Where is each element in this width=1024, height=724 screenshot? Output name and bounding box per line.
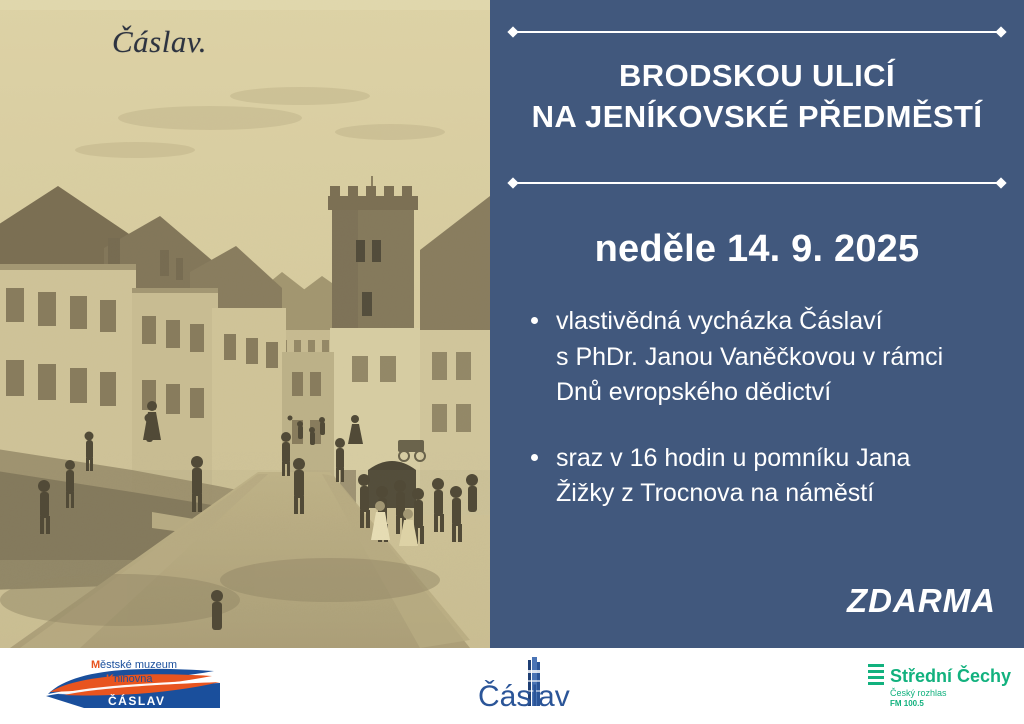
radio-line2: Český rozhlas <box>890 688 947 698</box>
rule-bar <box>515 31 999 33</box>
bullet-line: vlastivědná vycházka Čáslaví <box>556 304 1010 340</box>
page-title: BRODSKOU ULICÍ NA JENÍKOVSKÉ PŘEDMĚSTÍ <box>498 55 1016 137</box>
museum-line1-rest: ěstské muzeum <box>100 659 177 671</box>
event-date: neděle 14. 9. 2025 <box>498 228 1016 271</box>
poster-root: Čáslav. BRODSKOU ULICÍ NA JENÍKOVSKÉ PŘE… <box>0 0 1024 724</box>
radio-line1: Střední Čechy <box>890 665 1011 686</box>
historic-photo: Čáslav. <box>0 0 490 648</box>
logo-mesto-caslav: Čáslav <box>470 654 590 716</box>
price-badge: ZDARMA <box>847 582 996 620</box>
list-item: vlastivědná vycházka Čáslaví s PhDr. Jan… <box>526 304 1010 411</box>
bullet-line: Žižky z Trocnova na náměstí <box>556 476 1010 512</box>
event-details-list: vlastivědná vycházka Čáslaví s PhDr. Jan… <box>526 304 1010 542</box>
caslav-tower-logo-mark: Čáslav <box>470 654 590 716</box>
bullet-icon <box>531 317 538 324</box>
bullet-icon <box>531 454 538 461</box>
museum-line3: ČÁSLAV <box>108 693 165 708</box>
title-line-2: NA JENÍKOVSKÉ PŘEDMĚSTÍ <box>498 96 1016 137</box>
radio-line3: FM 100.5 <box>890 699 924 708</box>
photo-caption: Čáslav. <box>112 24 207 60</box>
logo-mestske-muzeum-caslav: M ěstské muzeum K nihovna ČÁSLAV <box>44 654 224 716</box>
bullet-line: s PhDr. Janou Vaněčkovou v rámci <box>556 340 1010 376</box>
logo-cesky-rozhlas-stredni-cechy: Střední Čechy Český rozhlas FM 100.5 <box>866 660 1018 710</box>
radio-waves-icon <box>868 664 884 685</box>
decorative-rule-bottom <box>508 178 1006 188</box>
logo-bar: M ěstské muzeum K nihovna ČÁSLAV Čáslav <box>0 648 1024 724</box>
list-item: sraz v 16 hodin u pomníku Jana Žižky z T… <box>526 441 1010 512</box>
title-line-1: BRODSKOU ULICÍ <box>619 58 895 93</box>
museum-line2-rest: nihovna <box>114 673 153 685</box>
decorative-rule-top <box>508 27 1006 37</box>
diamond-icon <box>995 177 1006 188</box>
historic-photo-illustration <box>0 0 490 648</box>
caslav-wordmark: Čáslav <box>478 679 570 713</box>
museum-line1-initial: M <box>91 659 100 671</box>
museum-logo-mark: M ěstské muzeum K nihovna ČÁSLAV <box>44 654 224 716</box>
diamond-icon <box>995 26 1006 37</box>
bullet-line: Dnů evropského dědictví <box>556 375 1010 411</box>
museum-line2-initial: K <box>106 673 114 685</box>
bullet-line: sraz v 16 hodin u pomníku Jana <box>556 441 1010 477</box>
radio-logo-mark: Střední Čechy Český rozhlas FM 100.5 <box>866 660 1018 710</box>
info-panel: BRODSKOU ULICÍ NA JENÍKOVSKÉ PŘEDMĚSTÍ n… <box>490 0 1024 648</box>
rule-bar <box>515 182 999 184</box>
